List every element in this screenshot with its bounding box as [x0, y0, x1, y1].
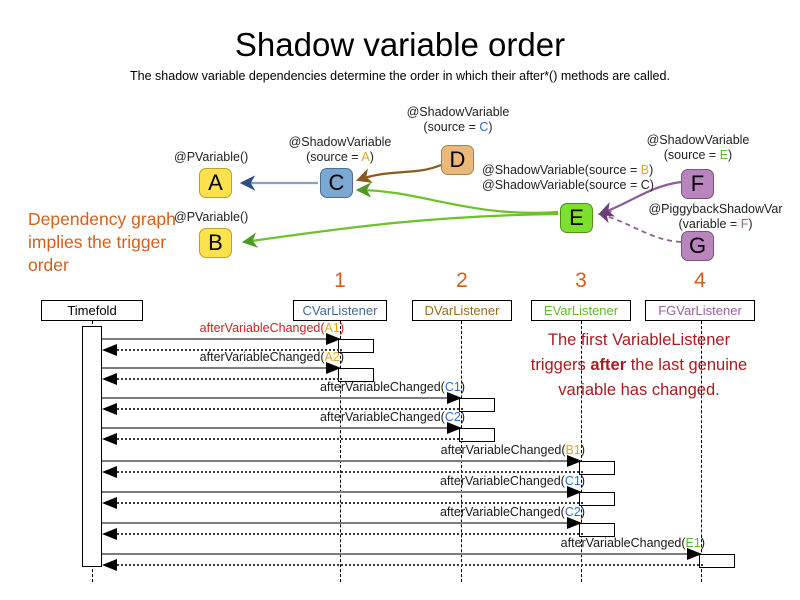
annotation-c-shadowvariable: @ShadowVariable (source = A)	[280, 135, 400, 165]
graph-node-a: A	[199, 168, 232, 198]
annotation-e-line1: @ShadowVariable(source = B)	[482, 163, 654, 178]
message-label-6: afterVariableChanged(C1)	[102, 474, 585, 488]
graph-node-d: D	[441, 145, 474, 175]
message-call-line-4	[102, 427, 449, 429]
annotation-f-line1: @ShadowVariable	[637, 133, 759, 148]
participant-cvarlistener[interactable]: CVarListener	[293, 300, 387, 321]
annotation-g-piggyback: @PiggybackShadowVar (variable = F)	[638, 202, 793, 232]
participant-fgvarlistener[interactable]: FGVarListener	[645, 300, 755, 321]
listener-trigger-note: The first VariableListener triggers afte…	[484, 328, 794, 403]
graph-node-c: C	[320, 168, 353, 198]
diagram-canvas: Shadow variable order The shadow variabl…	[0, 0, 800, 600]
graph-node-e: E	[560, 203, 593, 233]
message-method-2: afterVariableChanged(	[200, 350, 325, 364]
message-return-line-5	[114, 471, 583, 473]
message-activation-4	[459, 428, 495, 442]
participant-number-3: 3	[561, 269, 601, 293]
message-return-line-8	[114, 564, 703, 566]
annotation-d-shadowvariable: @ShadowVariable (source = C)	[398, 105, 518, 135]
participant-number-4: 4	[680, 269, 720, 293]
message-method-4: afterVariableChanged(	[320, 410, 445, 424]
message-call-line-8	[102, 553, 689, 555]
annotation-g-line2: (variable = F)	[638, 217, 793, 232]
message-label-4: afterVariableChanged(C2)	[102, 410, 465, 424]
participant-evarlistener[interactable]: EVarListener	[531, 300, 631, 321]
listener-note-line3: variable has changed.	[484, 378, 794, 403]
message-call-line-5	[102, 460, 569, 462]
dependency-order-note: Dependency graph implies the trigger ord…	[28, 208, 178, 277]
annotation-b-pvariable: @PVariable()	[174, 210, 248, 225]
message-method-3: afterVariableChanged(	[320, 380, 445, 394]
listener-note-line2: triggers after the last genuine	[484, 353, 794, 378]
message-call-line-3	[102, 397, 449, 399]
annotation-f-shadowvariable: @ShadowVariable (source = E)	[637, 133, 759, 163]
message-label-5: afterVariableChanged(B1)	[102, 443, 585, 457]
timefold-activation-bar	[82, 326, 102, 567]
annotation-f-line2: (source = E)	[637, 148, 759, 163]
message-return-arrowhead-8	[102, 559, 117, 571]
message-label-2: afterVariableChanged(A2)	[102, 350, 344, 364]
graph-node-g: G	[681, 231, 714, 261]
message-call-line-2	[102, 367, 328, 369]
message-label-1: afterVariableChanged(A1)	[102, 321, 344, 335]
annotation-g-line1: @PiggybackShadowVar	[638, 202, 793, 217]
page-subtitle: The shadow variable dependencies determi…	[0, 69, 800, 83]
message-label-7: afterVariableChanged(C2)	[102, 505, 585, 519]
message-method-6: afterVariableChanged(	[440, 474, 565, 488]
message-activation-5	[579, 461, 615, 475]
message-label-8: afterVariableChanged(E1)	[102, 536, 705, 550]
graph-node-f: F	[681, 169, 714, 199]
message-method-1: afterVariableChanged(	[200, 321, 325, 335]
listener-note-line1: The first VariableListener	[484, 328, 794, 353]
message-call-line-7	[102, 522, 569, 524]
message-activation-8	[699, 554, 735, 568]
participant-number-1: 1	[320, 269, 360, 293]
annotation-c-line1: @ShadowVariable	[280, 135, 400, 150]
annotation-f-source-arg: E	[720, 148, 728, 162]
participant-dvarlistener[interactable]: DVarListener	[412, 300, 512, 321]
annotation-c-line2: (source = A)	[280, 150, 400, 165]
message-return-line-6	[114, 502, 583, 504]
annotation-d-line1: @ShadowVariable	[398, 105, 518, 120]
annotation-a-pvariable: @PVariable()	[174, 150, 248, 165]
annotation-e-shadowvariable: @ShadowVariable(source = B) @ShadowVaria…	[482, 163, 654, 193]
participant-timefold[interactable]: Timefold	[41, 300, 143, 321]
message-method-8: afterVariableChanged(	[561, 536, 686, 550]
page-title: Shadow variable order	[0, 26, 800, 64]
message-activation-6	[579, 492, 615, 506]
message-activation-7	[579, 523, 615, 537]
listener-note-emphasis: after	[590, 356, 626, 374]
message-call-line-6	[102, 491, 569, 493]
participant-number-2: 2	[442, 269, 482, 293]
message-label-3: afterVariableChanged(C1)	[102, 380, 465, 394]
annotation-e-line2: @ShadowVariable(source = C)	[482, 178, 654, 193]
message-method-7: afterVariableChanged(	[440, 505, 565, 519]
message-return-line-7	[114, 533, 583, 535]
message-return-line-4	[114, 438, 463, 440]
message-method-5: afterVariableChanged(	[441, 443, 566, 457]
annotation-d-line2: (source = C)	[398, 120, 518, 135]
graph-node-b: B	[199, 228, 232, 258]
annotation-e-source-arg: B	[641, 163, 649, 177]
message-call-line-1	[102, 338, 328, 340]
annotation-c-source-arg: A	[361, 150, 369, 164]
